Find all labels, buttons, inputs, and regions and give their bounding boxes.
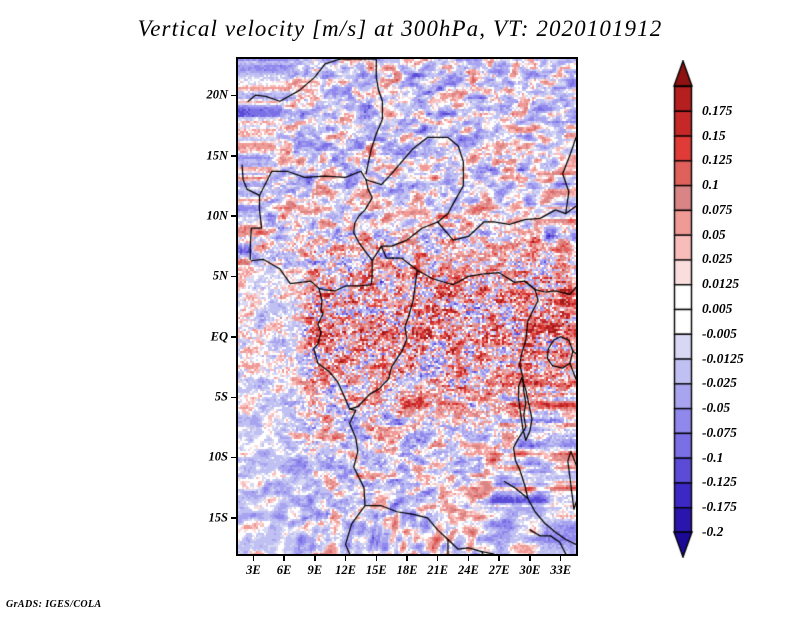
y-axis-tick-label: 15N: [180, 148, 228, 163]
x-axis-tick: [314, 556, 316, 561]
colorbar-tick-label: -0.175: [702, 499, 737, 515]
x-axis-tick-label: 12E: [335, 563, 356, 578]
x-axis-tick-label: 27E: [489, 563, 510, 578]
colorbar: [671, 60, 695, 558]
colorbar-tick-label: 0.175: [702, 103, 732, 119]
y-axis-tick-label: EQ: [180, 329, 228, 344]
x-axis-tick: [498, 556, 500, 561]
x-axis-tick: [468, 556, 470, 561]
x-axis-tick: [560, 556, 562, 561]
x-axis-tick-label: 15E: [366, 563, 387, 578]
x-axis-tick-label: 9E: [308, 563, 323, 578]
x-axis-tick-label: 18E: [397, 563, 418, 578]
colorbar-tick-label: -0.0125: [702, 351, 744, 367]
x-axis-tick-label: 6E: [277, 563, 292, 578]
colorbar-tick-label: -0.1: [702, 450, 723, 466]
x-axis-tick-label: 21E: [427, 563, 448, 578]
x-axis-tick-label: 33E: [550, 563, 571, 578]
colorbar-tick-label: 0.0125: [702, 276, 739, 292]
page-title: Vertical velocity [m/s] at 300hPa, VT: 2…: [0, 16, 800, 42]
colorbar-tick-label: 0.15: [702, 128, 726, 144]
colorbar-tick-label: 0.1: [702, 177, 719, 193]
colorbar-swatches: [671, 60, 695, 558]
x-axis-tick-label: 3E: [246, 563, 261, 578]
y-axis-tick-label: 5S: [180, 390, 228, 405]
y-axis-tick: [231, 397, 236, 399]
y-axis-tick-label: 5N: [180, 269, 228, 284]
colorbar-tick-label: 0.025: [702, 251, 732, 267]
y-axis-tick-label: 10N: [180, 208, 228, 223]
y-axis-tick: [231, 215, 236, 217]
footer-credit: GrADS: IGES/COLA: [6, 599, 102, 610]
x-axis-tick: [345, 556, 347, 561]
y-axis-tick-label: 10S: [180, 450, 228, 465]
colorbar-tick-label: -0.05: [702, 400, 730, 416]
map-plot-panel: [236, 57, 578, 556]
x-axis-tick: [376, 556, 378, 561]
colorbar-tick-label: -0.025: [702, 375, 737, 391]
colorbar-tick-label: -0.005: [702, 326, 737, 342]
colorbar-tick-label: -0.125: [702, 474, 737, 490]
x-axis-tick: [437, 556, 439, 561]
colorbar-tick-label: -0.2: [702, 524, 723, 540]
colorbar-tick-label: 0.005: [702, 301, 732, 317]
y-axis-tick-label: 20N: [180, 88, 228, 103]
y-axis-tick: [231, 336, 236, 338]
x-axis-tick: [283, 556, 285, 561]
x-axis-tick-label: 30E: [519, 563, 540, 578]
x-axis-tick-label: 24E: [458, 563, 479, 578]
x-axis-tick: [253, 556, 255, 561]
y-axis-tick: [231, 155, 236, 157]
y-axis-tick: [231, 276, 236, 278]
x-axis-tick: [529, 556, 531, 561]
colorbar-tick-label: -0.075: [702, 425, 737, 441]
colorbar-tick-label: 0.05: [702, 227, 726, 243]
x-axis-tick: [406, 556, 408, 561]
country-borders-overlay: [238, 59, 576, 554]
colorbar-tick-label: 0.125: [702, 152, 732, 168]
y-axis-tick: [231, 95, 236, 97]
colorbar-tick-label: 0.075: [702, 202, 732, 218]
y-axis-tick: [231, 517, 236, 519]
y-axis-tick: [231, 457, 236, 459]
y-axis-tick-label: 15S: [180, 510, 228, 525]
